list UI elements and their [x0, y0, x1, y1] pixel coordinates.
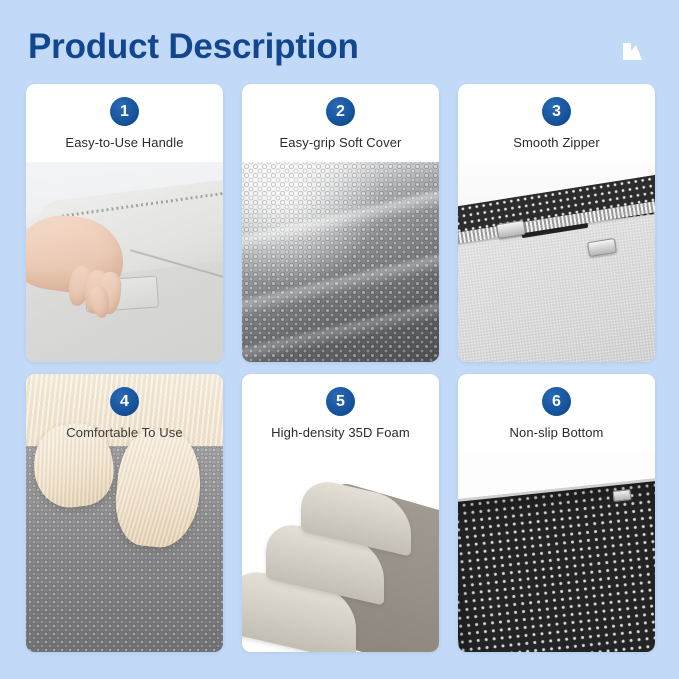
step-badge-1: 1 — [110, 97, 139, 126]
feature-card-grid: 1 Easy-to-Use Handle 2 Easy-grip Soft Co… — [26, 84, 654, 656]
step-badge-2: 2 — [326, 97, 355, 126]
feature-label-3: Smooth Zipper — [458, 135, 655, 151]
feature-card-6[interactable]: 6 Non-slip Bottom — [458, 374, 655, 652]
step-badge-4: 4 — [110, 387, 139, 416]
product-description-infographic: Product Description — [0, 0, 679, 679]
feature-label-6: Non-slip Bottom — [458, 425, 655, 441]
feature-header-5: 5 High-density 35D Foam — [242, 374, 439, 452]
feature-card-4[interactable]: 4 Comfortable To Use — [26, 374, 223, 652]
feature-photo-3 — [458, 162, 655, 362]
feature-label-5: High-density 35D Foam — [242, 425, 439, 441]
step-badge-5: 5 — [326, 387, 355, 416]
feature-photo-2 — [242, 162, 439, 362]
feature-label-1: Easy-to-Use Handle — [26, 135, 223, 151]
feature-card-2[interactable]: 2 Easy-grip Soft Cover — [242, 84, 439, 362]
feature-label-2: Easy-grip Soft Cover — [242, 135, 439, 151]
feature-card-5[interactable]: 5 High-density 35D Foam — [242, 374, 439, 652]
feature-photo-5 — [242, 452, 439, 652]
feature-card-3[interactable]: 3 Smooth Zipper — [458, 84, 655, 362]
feature-header-4: 4 Comfortable To Use — [26, 374, 223, 452]
header: Product Description — [0, 0, 679, 84]
step-badge-3: 3 — [542, 97, 571, 126]
feature-header-3: 3 Smooth Zipper — [458, 84, 655, 162]
feature-header-6: 6 Non-slip Bottom — [458, 374, 655, 452]
feature-photo-1 — [26, 162, 223, 362]
page-fold-icon — [621, 42, 643, 62]
feature-label-4: Comfortable To Use — [26, 425, 223, 441]
step-badge-6: 6 — [542, 387, 571, 416]
feature-card-1[interactable]: 1 Easy-to-Use Handle — [26, 84, 223, 362]
feature-header-1: 1 Easy-to-Use Handle — [26, 84, 223, 162]
page-title: Product Description — [28, 27, 359, 67]
feature-header-2: 2 Easy-grip Soft Cover — [242, 84, 439, 162]
feature-photo-6 — [458, 452, 655, 652]
